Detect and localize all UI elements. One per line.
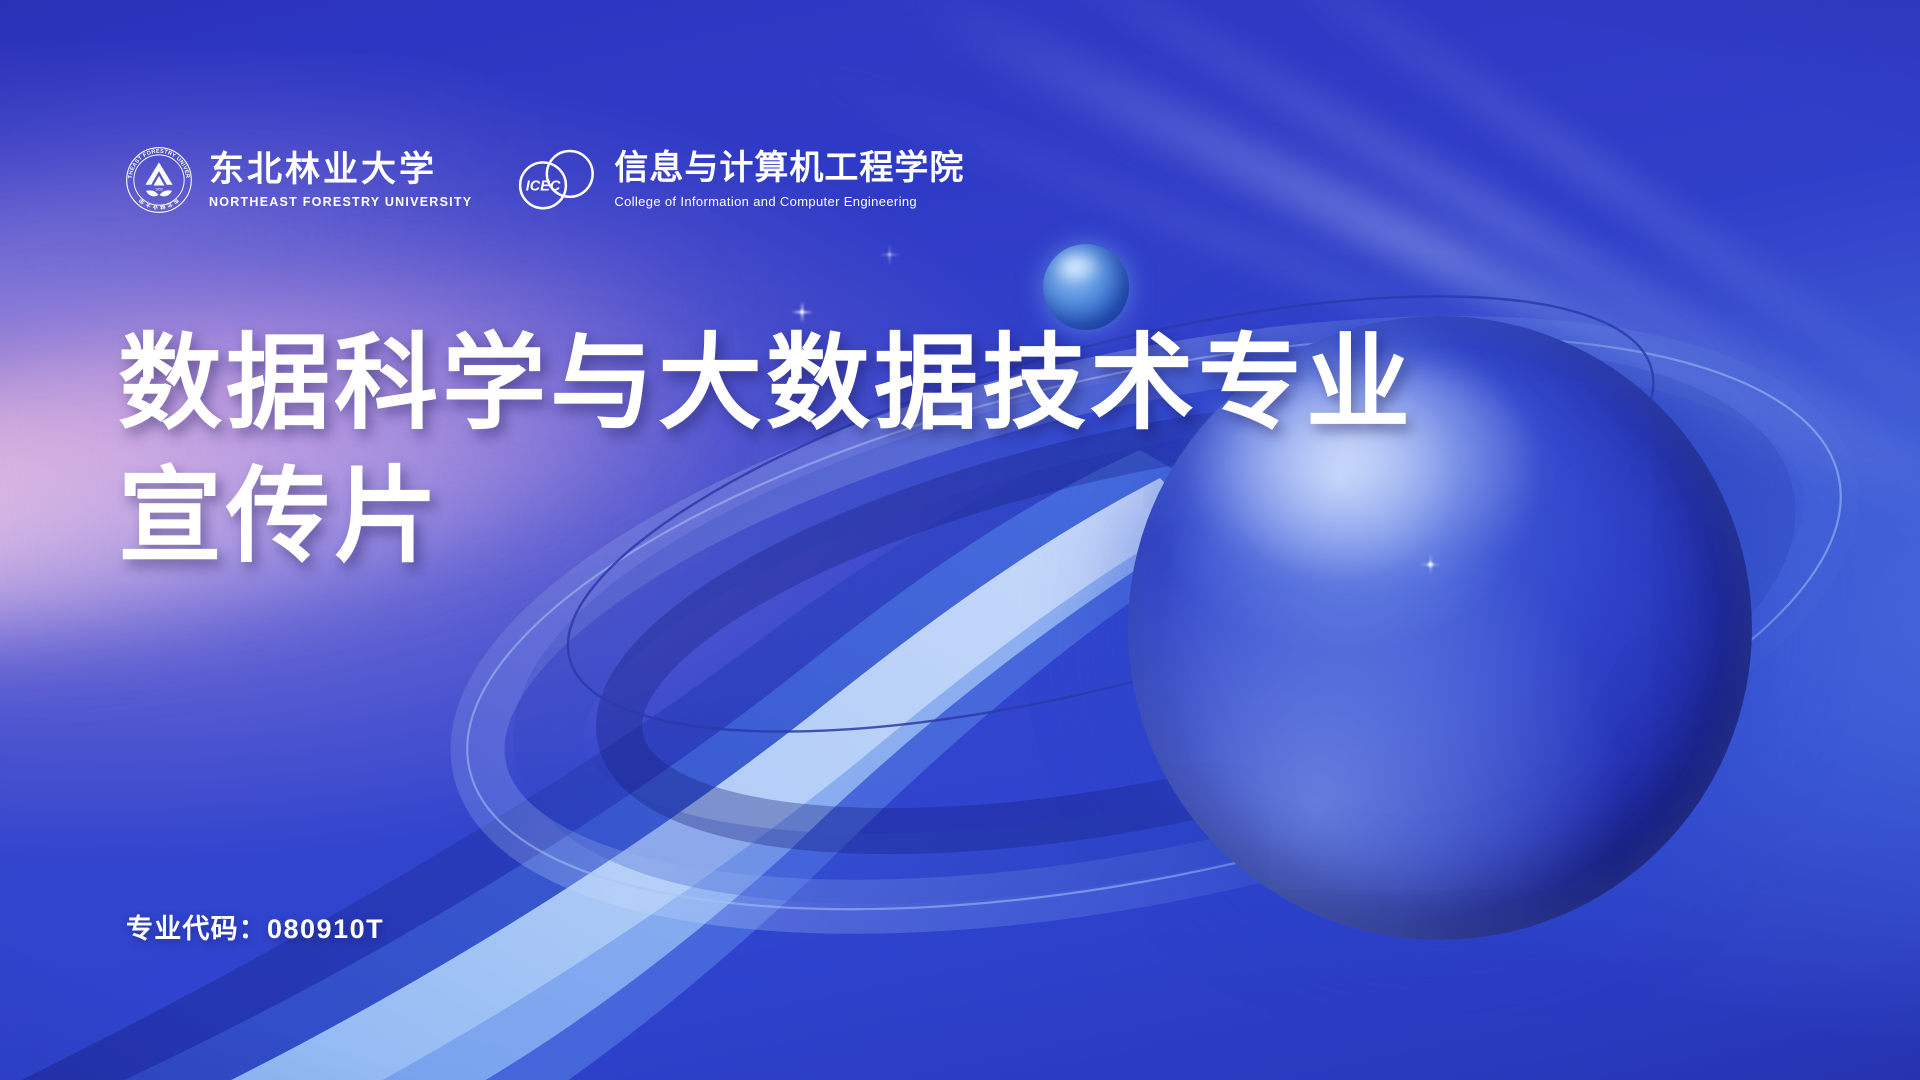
college-name-en: College of Information and Computer Engi… (614, 194, 964, 209)
college-name-block: 信息与计算机工程学院 College of Information and Co… (614, 151, 964, 208)
major-code-value: 080910T (267, 914, 384, 944)
promo-poster: NORTHEAST FORESTRY UNIVERSITY 东 北 林 业 大 … (0, 0, 1920, 1080)
sphere-highlight (1058, 254, 1103, 285)
icec-mark-text: ICEC (526, 179, 561, 195)
college-name-cn: 信息与计算机工程学院 (614, 151, 964, 187)
university-name-cn: 东北林业大学 (209, 151, 472, 188)
major-code-label: 专业代码： (126, 914, 267, 944)
sparkle-icon (1428, 562, 1433, 567)
svg-text:1952: 1952 (155, 188, 163, 192)
major-code: 专业代码：080910T (126, 907, 384, 946)
title-line-2: 宣传片 (118, 451, 1414, 584)
sparkle-icon (800, 310, 804, 314)
nefu-circular-seal-icon: NORTHEAST FORESTRY UNIVERSITY 东 北 林 业 大 … (125, 146, 193, 214)
title-line-1: 数据科学与大数据技术专业 (118, 318, 1414, 451)
page-title: 数据科学与大数据技术专业 宣传片 (118, 318, 1414, 584)
university-name-block: 东北林业大学 NORTHEAST FORESTRY UNIVERSITY (209, 151, 472, 208)
university-logo: NORTHEAST FORESTRY UNIVERSITY 东 北 林 业 大 … (125, 146, 472, 214)
logo-row: NORTHEAST FORESTRY UNIVERSITY 东 北 林 业 大 … (125, 146, 964, 214)
icec-double-circle-icon: ICEC (514, 147, 598, 213)
college-logo: ICEC 信息与计算机工程学院 College of Information a… (514, 147, 964, 213)
university-name-en: NORTHEAST FORESTRY UNIVERSITY (209, 195, 472, 209)
sparkle-icon (888, 253, 891, 256)
